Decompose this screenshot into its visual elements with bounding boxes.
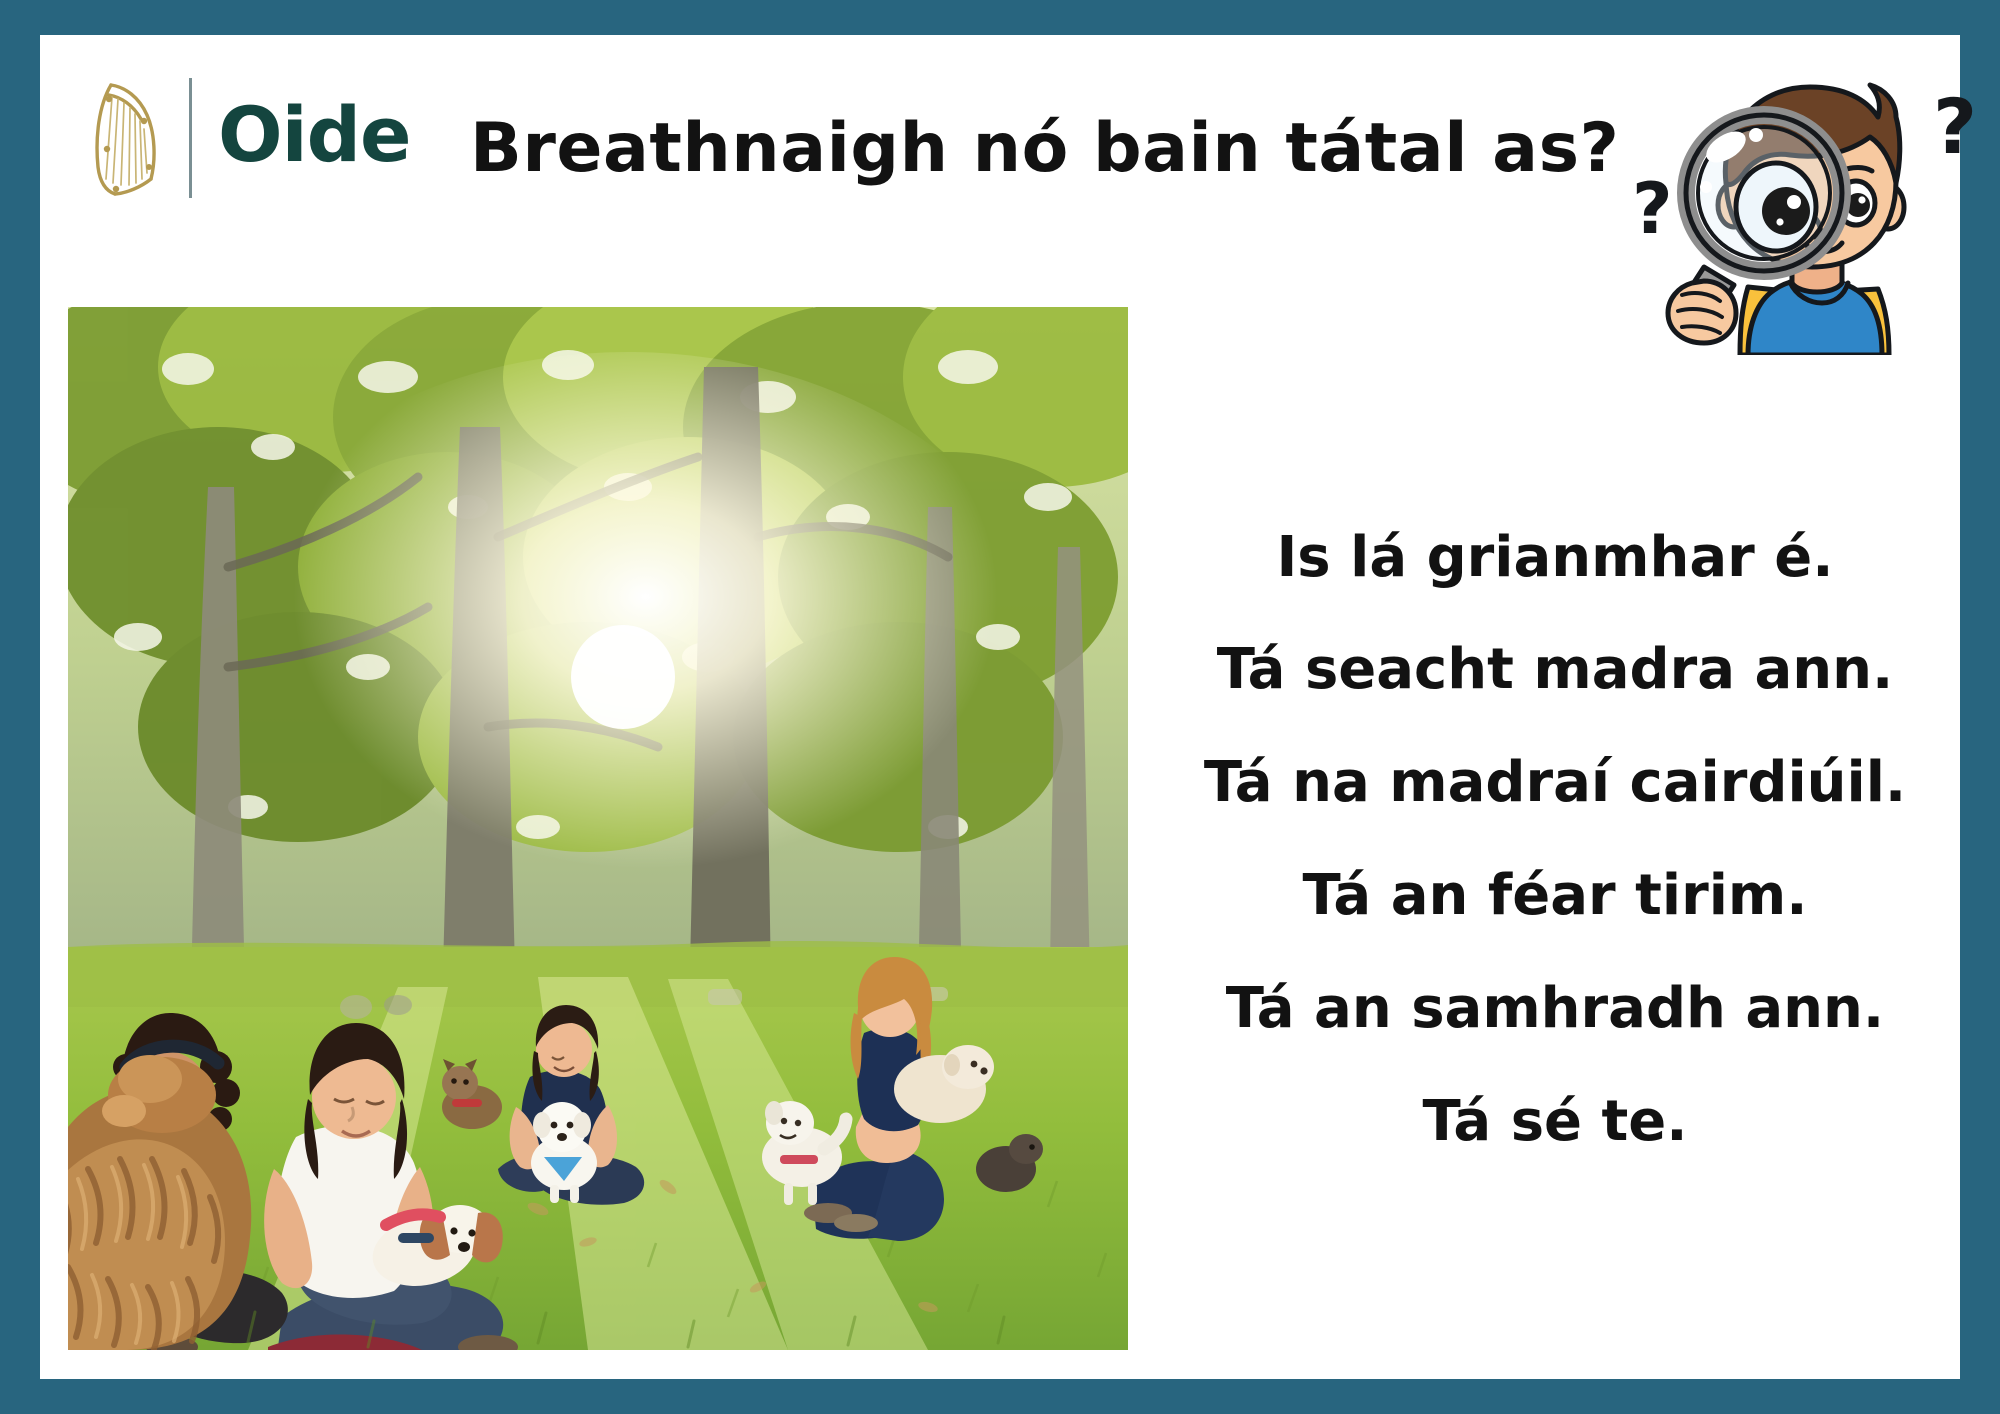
oide-brand-lockup: Oide (85, 70, 411, 205)
park-dogs-photo (68, 307, 1128, 1350)
question-mark-right-icon: ? (1933, 82, 1977, 171)
slide-card: Oide Breathnaigh nó bain tátal as? (40, 35, 1960, 1379)
sentence-item: Tá sé te. (1150, 1066, 1960, 1179)
question-mark-left-icon: ? (1632, 168, 1673, 250)
sentence-item: Is lá grianmhar é. (1150, 502, 1960, 615)
sentence-item: Tá an féar tirim. (1150, 840, 1960, 953)
sentence-list: Is lá grianmhar é. Tá seacht madra ann. … (1150, 335, 1960, 1345)
slide-root: Oide Breathnaigh nó bain tátal as? (0, 0, 2000, 1414)
sentence-item: Tá na madraí cairdiúil. (1150, 727, 1960, 840)
brand-divider (189, 78, 192, 198)
sentence-item: Tá an samhradh ann. (1150, 953, 1960, 1066)
irish-harp-icon (85, 75, 167, 200)
sentence-item: Tá seacht madra ann. (1150, 614, 1960, 727)
brand-name: Oide (218, 97, 411, 179)
boy-with-magnifying-glass-illustration: ? ? (1630, 55, 1980, 355)
slide-header: Oide Breathnaigh nó bain tátal as? (40, 35, 1960, 265)
page-title: Breathnaigh nó bain tátal as? (470, 109, 1619, 188)
